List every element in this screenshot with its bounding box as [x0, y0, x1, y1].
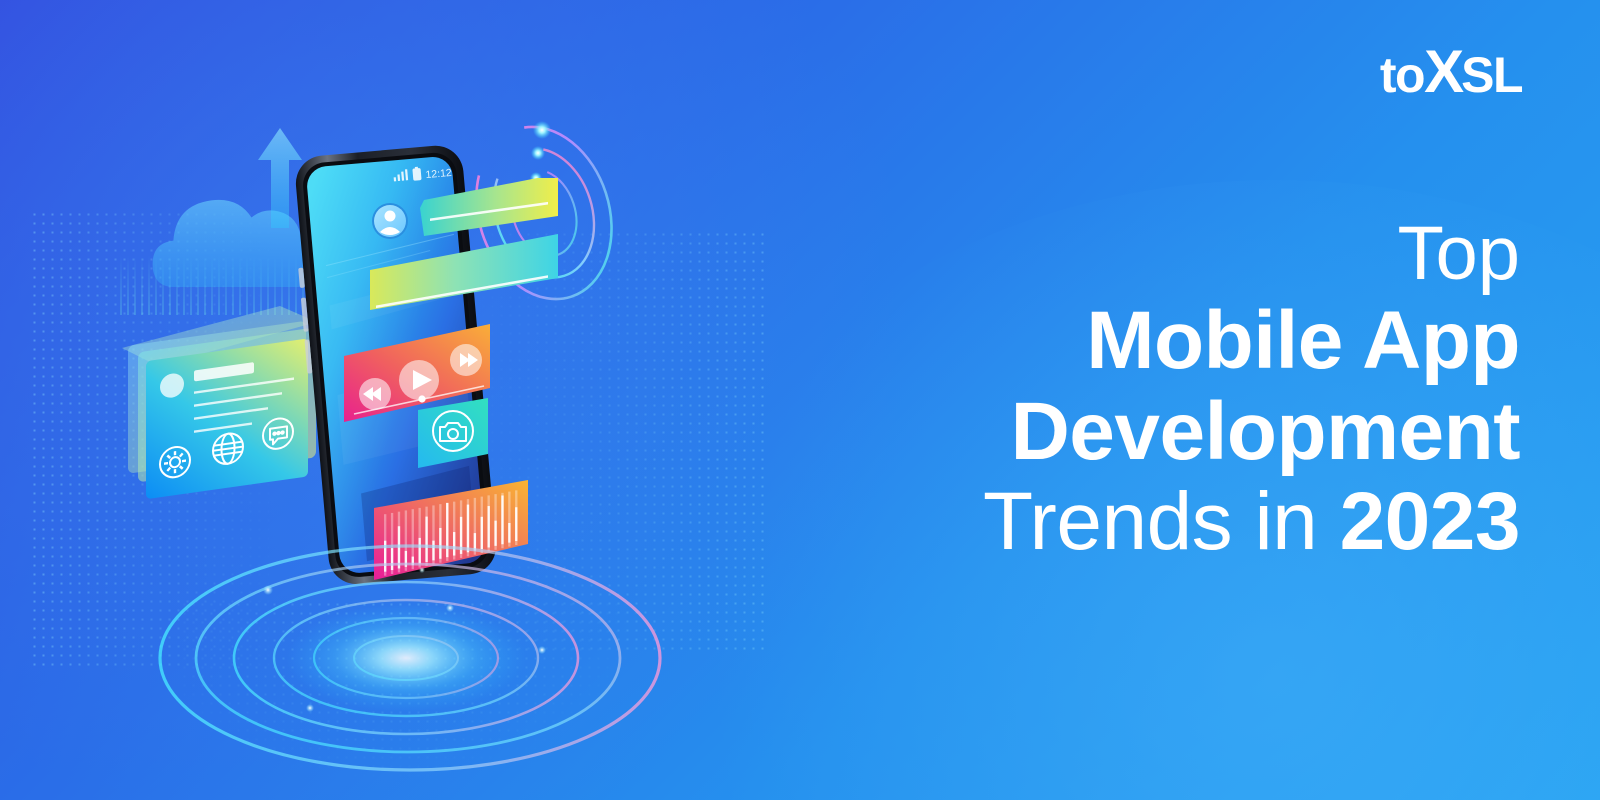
- logo-text-x: X: [1424, 38, 1461, 105]
- headline-line-2: Mobile App: [860, 299, 1520, 383]
- ripple-rings-icon: [150, 530, 670, 780]
- ripple-rings-group: [150, 530, 670, 780]
- headline-line-3: Development: [860, 390, 1520, 474]
- toxsl-logo[interactable]: toXSL: [1380, 42, 1522, 102]
- headline-line-4: Trends in 2023: [860, 480, 1520, 564]
- logo-text-to: to: [1380, 47, 1424, 103]
- headline-line-4-light: Trends in: [983, 476, 1340, 567]
- chat-bubbles-icon: [362, 178, 562, 318]
- headline-line-4-year: 2023: [1340, 476, 1520, 567]
- banner-root: 12:12: [0, 0, 1600, 800]
- logo-text-sl: SL: [1461, 47, 1522, 103]
- camera-tile-icon: [414, 392, 496, 474]
- user-avatar-icon: [372, 203, 408, 239]
- camera-tile-card: [414, 392, 496, 474]
- headline-block: Top Mobile App Development Trends in 202…: [860, 215, 1520, 565]
- chat-bubbles-group: [362, 178, 562, 318]
- headline-line-1: Top: [860, 215, 1520, 293]
